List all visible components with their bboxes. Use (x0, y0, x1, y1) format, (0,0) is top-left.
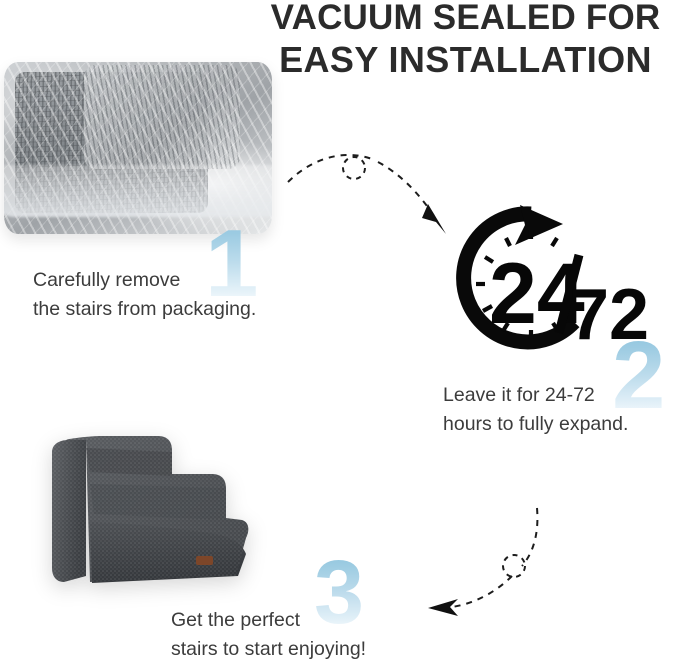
vacuum-sealed-package-photo (4, 62, 272, 234)
package-plastic-wrap (4, 62, 272, 234)
dashed-arrow-1-segment-b (378, 162, 434, 216)
step-1-caption-line-1: Carefully remove (33, 266, 256, 295)
pet-stairs-shape (46, 426, 254, 586)
page-title-line-2: EASY INSTALLATION (252, 39, 679, 81)
page-title-line-1: VACUUM SEALED FOR (252, 0, 679, 39)
step-3-caption-line-1: Get the perfect (171, 606, 366, 635)
dashed-arrow-2-head-icon (428, 599, 458, 616)
step-1-caption-line-2: the stairs from packaging. (33, 295, 256, 324)
step-1-caption: Carefully remove the stairs from packagi… (33, 266, 256, 324)
step-3-caption: Get the perfect stairs to start enjoying… (171, 606, 366, 663)
dashed-arrow-1-loop (343, 157, 365, 179)
infographic-page: VACUUM SEALED FOR EASY INSTALLATION 1 Ca… (0, 0, 679, 663)
dashed-arrow-2-segment-b (452, 576, 512, 607)
dashed-arrow-2-segment-a (522, 508, 537, 566)
step-2-caption-line-2: hours to fully expand. (443, 410, 628, 439)
page-title: VACUUM SEALED FOR EASY INSTALLATION (252, 0, 679, 81)
step-2-caption-line-1: Leave it for 24-72 (443, 381, 628, 410)
dashed-arrow-step2-to-step3 (424, 506, 594, 624)
clock-24-72-icon: 24 72 (441, 205, 623, 353)
dashed-arrow-2-loop (503, 555, 525, 577)
pet-stairs-photo (40, 418, 262, 590)
clock-24-72-graphic: 24 72 (441, 205, 623, 353)
brand-tag (196, 556, 213, 565)
step-3-caption-line-2: stairs to start enjoying! (171, 635, 366, 663)
dashed-arrow-step1-to-step2 (286, 146, 458, 240)
stairs-mesh-texture (52, 436, 249, 583)
step-2-caption: Leave it for 24-72 hours to fully expand… (443, 381, 628, 439)
